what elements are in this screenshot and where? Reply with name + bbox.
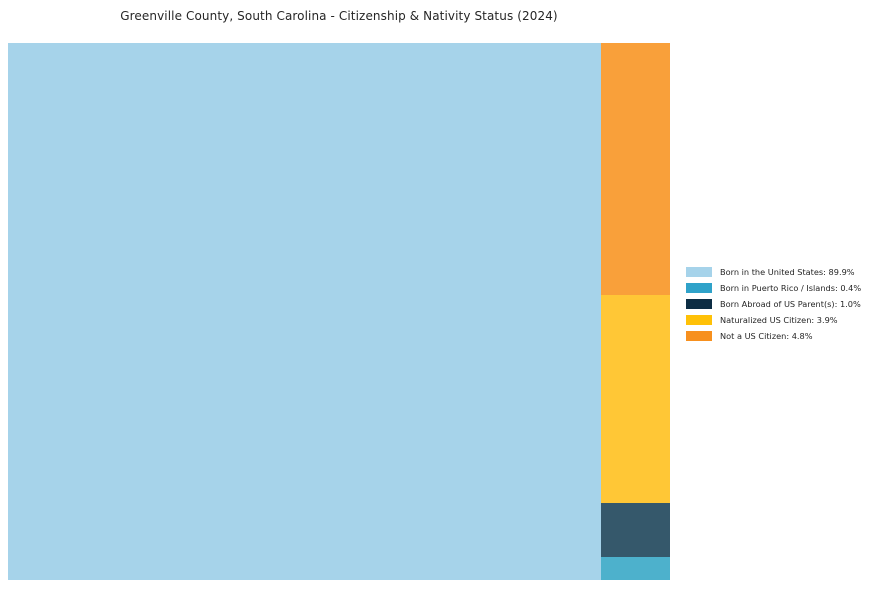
legend-item-label: Naturalized US Citizen: 3.9%: [720, 315, 838, 325]
chart-legend: Born in the United States: 89.9%Born in …: [686, 264, 881, 344]
legend-swatch-icon: [686, 331, 712, 341]
treemap-tile[interactable]: [601, 295, 670, 503]
legend-item[interactable]: Born in the United States: 89.9%: [686, 264, 881, 280]
legend-item[interactable]: Not a US Citizen: 4.8%: [686, 328, 881, 344]
legend-item-label: Born in the United States: 89.9%: [720, 267, 855, 277]
legend-item-label: Not a US Citizen: 4.8%: [720, 331, 813, 341]
treemap-tile[interactable]: [601, 43, 670, 295]
legend-item[interactable]: Born Abroad of US Parent(s): 1.0%: [686, 296, 881, 312]
legend-item[interactable]: Naturalized US Citizen: 3.9%: [686, 312, 881, 328]
legend-swatch-icon: [686, 299, 712, 309]
legend-item[interactable]: Born in Puerto Rico / Islands: 0.4%: [686, 280, 881, 296]
treemap-figure: Greenville County, South Carolina - Citi…: [0, 0, 889, 590]
legend-item-label: Born in Puerto Rico / Islands: 0.4%: [720, 283, 861, 293]
chart-title: Greenville County, South Carolina - Citi…: [0, 9, 678, 23]
treemap-plot-area: [8, 43, 670, 580]
legend-swatch-icon: [686, 283, 712, 293]
legend-swatch-icon: [686, 267, 712, 277]
treemap-tile[interactable]: [601, 557, 670, 580]
legend-swatch-icon: [686, 315, 712, 325]
legend-item-label: Born Abroad of US Parent(s): 1.0%: [720, 299, 861, 309]
treemap-tile[interactable]: [601, 503, 670, 557]
treemap-tile[interactable]: [8, 43, 601, 580]
